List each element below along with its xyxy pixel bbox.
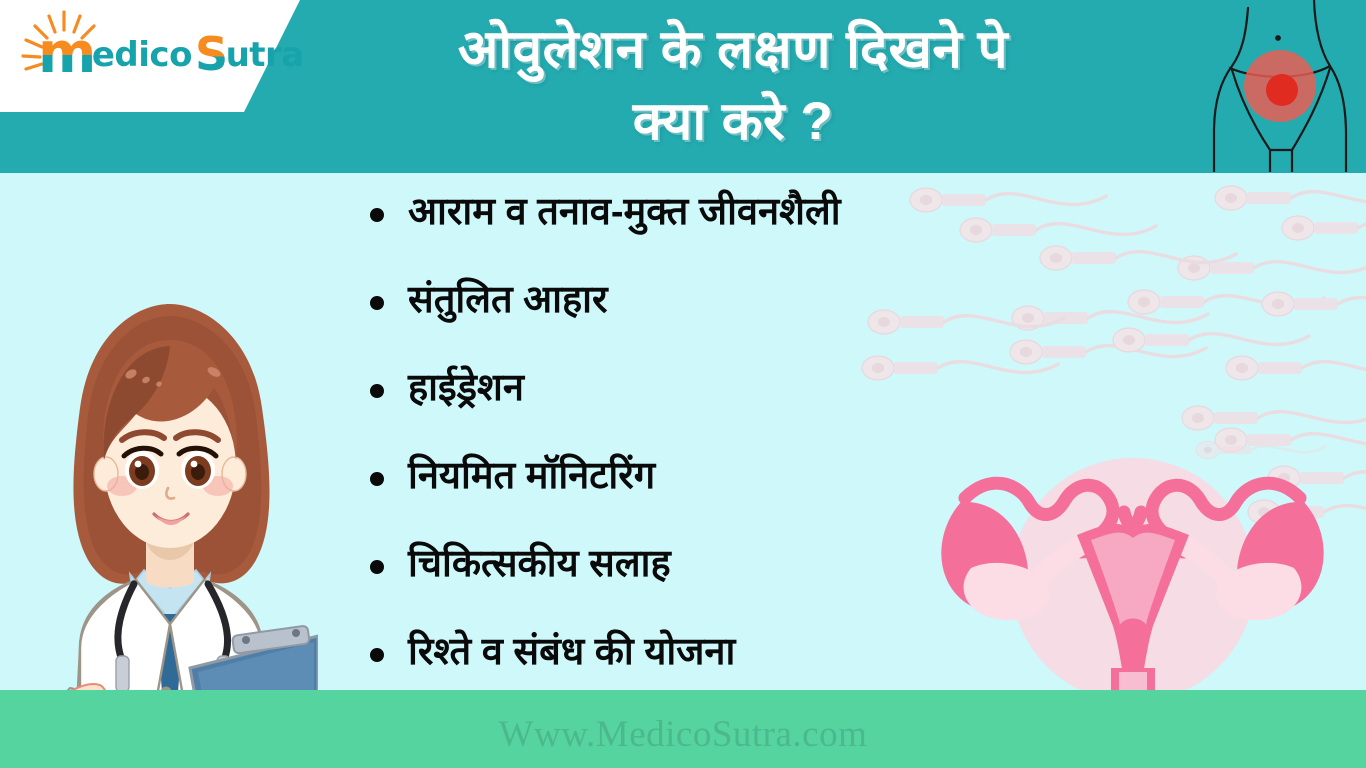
bullet-dot-icon: [370, 648, 384, 662]
list-item: संतुलित आहार: [370, 274, 1170, 362]
list-item: आराम व तनाव-मुक्त जीवनशैली: [370, 186, 1170, 274]
list-item: नियमित मॉनिटरिंग: [370, 450, 1170, 538]
brand-logo-text: medicoSutra: [38, 22, 307, 75]
list-item-label: रिश्ते व संबंध की योजना: [408, 626, 735, 678]
logo-text-edico: edico: [92, 35, 192, 75]
female-pelvis-pain-icon: [1202, 0, 1352, 172]
logo-letter-m: m: [38, 28, 96, 80]
brand-logo[interactable]: medicoSutra: [16, 6, 266, 106]
page-title-line-1: ओवुलेशन के लक्षण दिखने पे: [268, 14, 1198, 86]
list-item-label: संतुलित आहार: [408, 274, 608, 326]
list-item-label: आराम व तनाव-मुक्त जीवनशैली: [408, 186, 841, 238]
infographic-poster: medicoSutra ओवुलेशन के लक्षण दिखने पे क्…: [0, 0, 1366, 768]
bullet-dot-icon: [370, 296, 384, 310]
benefits-bullet-list: आराम व तनाव-मुक्त जीवनशैली संतुलित आहार …: [370, 186, 1170, 714]
bullet-dot-icon: [370, 472, 384, 486]
list-item-label: चिकित्सकीय सलाह: [408, 538, 671, 590]
page-title: ओवुलेशन के लक्षण दिखने पे क्या करे ?: [268, 14, 1198, 158]
bullet-dot-icon: [370, 208, 384, 222]
page-title-line-2: क्या करे ?: [268, 86, 1198, 158]
list-item: हाईड्रेशन: [370, 362, 1170, 450]
bullet-dot-icon: [370, 384, 384, 398]
list-item-label: हाईड्रेशन: [408, 362, 524, 414]
website-watermark: Www.MedicoSutra.com: [0, 713, 1366, 756]
logo-letter-s: S: [195, 34, 228, 74]
bullet-dot-icon: [370, 560, 384, 574]
list-item-label: नियमित मॉनिटरिंग: [408, 450, 655, 502]
list-item: चिकित्सकीय सलाह: [370, 538, 1170, 626]
